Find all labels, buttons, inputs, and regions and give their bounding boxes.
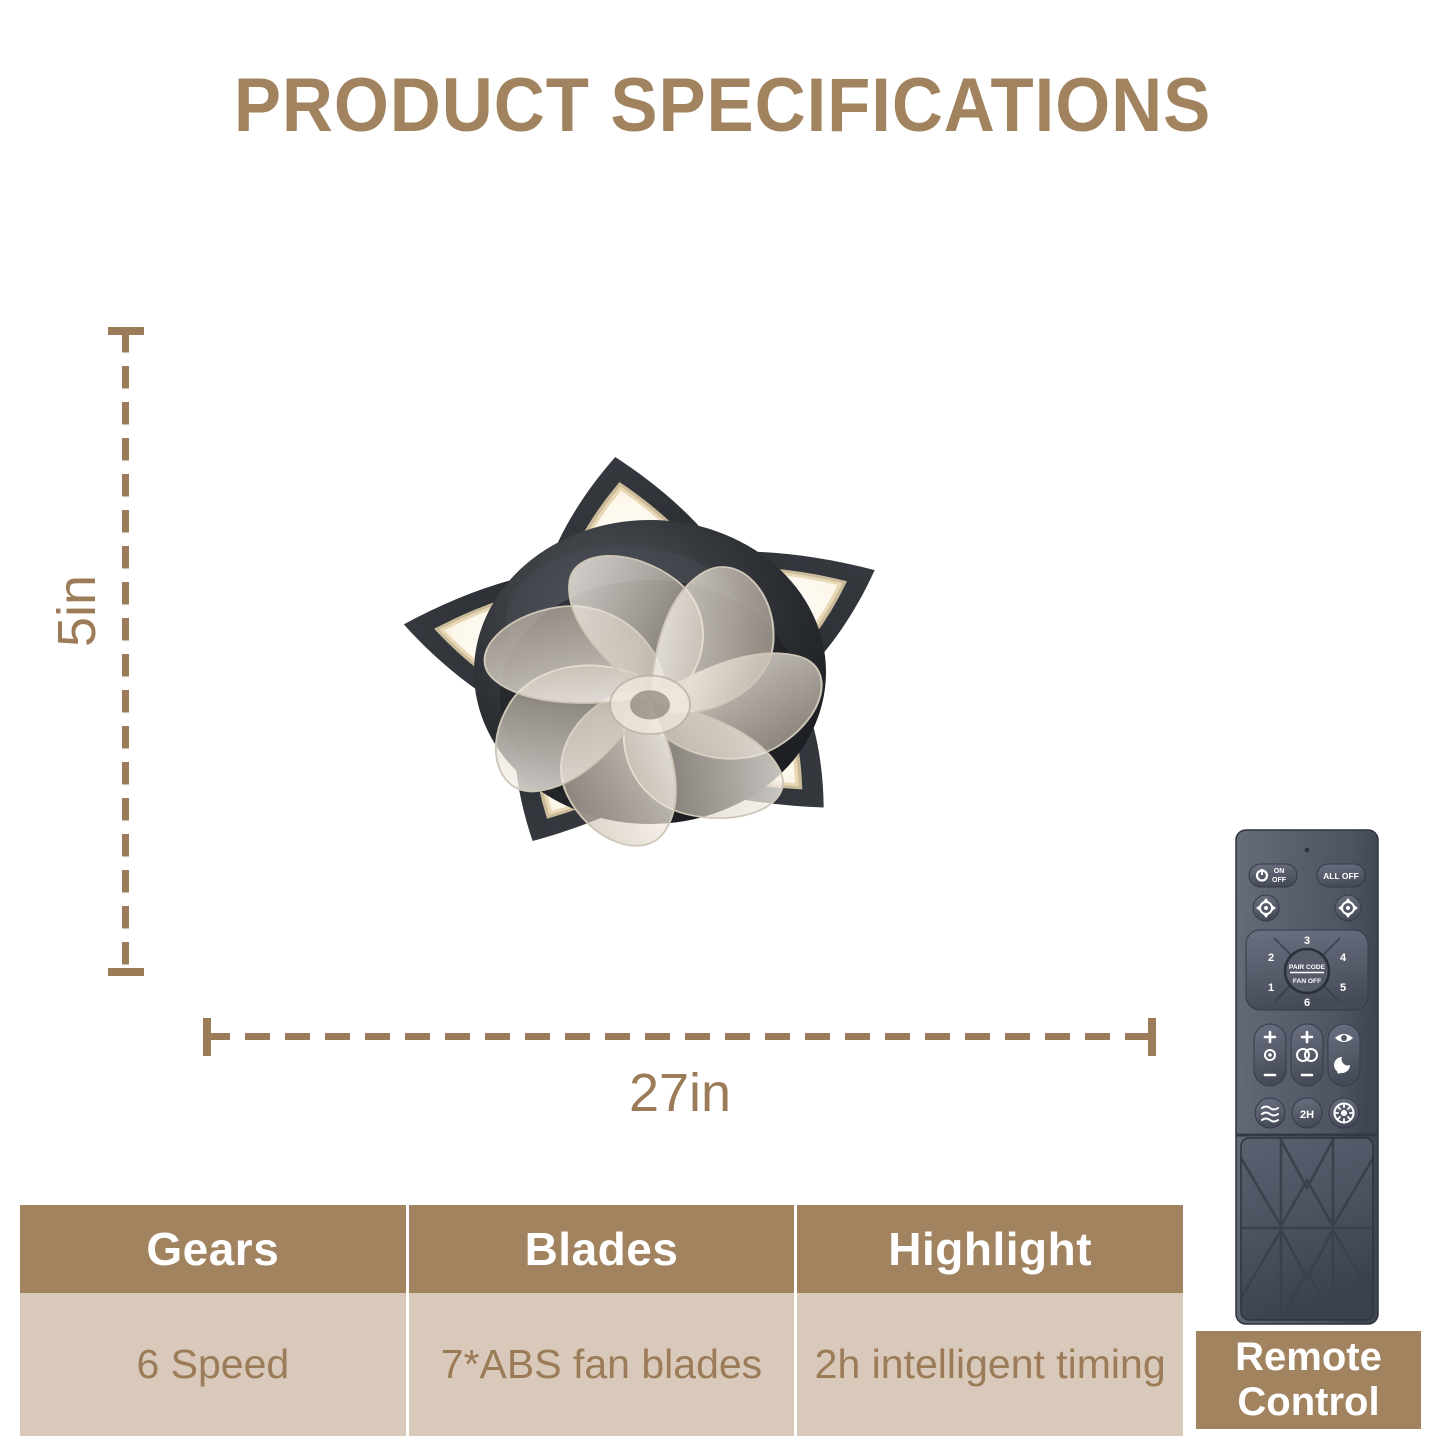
- svg-text:FAN OFF: FAN OFF: [1293, 978, 1321, 985]
- remote-mode-row: 2H: [1255, 1098, 1359, 1128]
- width-dimension-line: [205, 1033, 1155, 1040]
- product-image: [130, 300, 1200, 1000]
- svg-text:6: 6: [1304, 997, 1310, 1009]
- remote-grip-texture: [1241, 1138, 1373, 1320]
- remote-caption-line-2: Control: [1237, 1380, 1379, 1425]
- svg-text:3: 3: [1304, 935, 1310, 947]
- remote-control-illustration: ON OFF ALL OFF: [1233, 828, 1381, 1328]
- svg-text:PAIR CODE: PAIR CODE: [1289, 964, 1326, 971]
- spec-value-blades: 7*ABS fan blades: [409, 1293, 795, 1436]
- ceiling-fan-illustration: [130, 300, 1200, 1000]
- svg-text:2: 2: [1268, 952, 1274, 964]
- svg-text:ON: ON: [1274, 868, 1285, 875]
- svg-text:4: 4: [1340, 952, 1347, 964]
- page-title: PRODUCT SPECIFICATIONS: [51, 62, 1395, 149]
- spec-header-highlight: Highlight: [797, 1205, 1183, 1293]
- remote-control-image: ON OFF ALL OFF: [1233, 828, 1381, 1328]
- remote-adjust-row: [1254, 1024, 1360, 1086]
- spec-header-blades: Blades: [409, 1205, 795, 1293]
- svg-text:OFF: OFF: [1272, 877, 1287, 884]
- remote-caption-line-1: Remote: [1235, 1335, 1382, 1380]
- ir-led-dot: [1305, 848, 1310, 853]
- width-dimension-cap-right: [1148, 1018, 1156, 1056]
- width-dimension-label: 27in: [0, 1062, 1360, 1124]
- spec-value-gears: 6 Speed: [20, 1293, 406, 1436]
- spec-table: Gears Blades Highlight 6 Speed 7*ABS fan…: [20, 1205, 1183, 1436]
- svg-text:1: 1: [1268, 982, 1274, 994]
- height-dimension-line: [122, 330, 129, 975]
- remote-control-caption: Remote Control: [1196, 1331, 1421, 1429]
- spec-value-highlight: 2h intelligent timing: [797, 1293, 1183, 1436]
- height-dimension-label: 5in: [46, 531, 108, 691]
- spec-header-gears: Gears: [20, 1205, 406, 1293]
- svg-text:2H: 2H: [1300, 1109, 1314, 1121]
- svg-text:5: 5: [1340, 982, 1346, 994]
- remote-speed-dial: 3 2 4 1 5 6 PAIR CODE FAN OFF: [1246, 930, 1368, 1010]
- height-dimension-cap-bottom: [108, 968, 144, 976]
- svg-text:ALL OFF: ALL OFF: [1323, 871, 1359, 881]
